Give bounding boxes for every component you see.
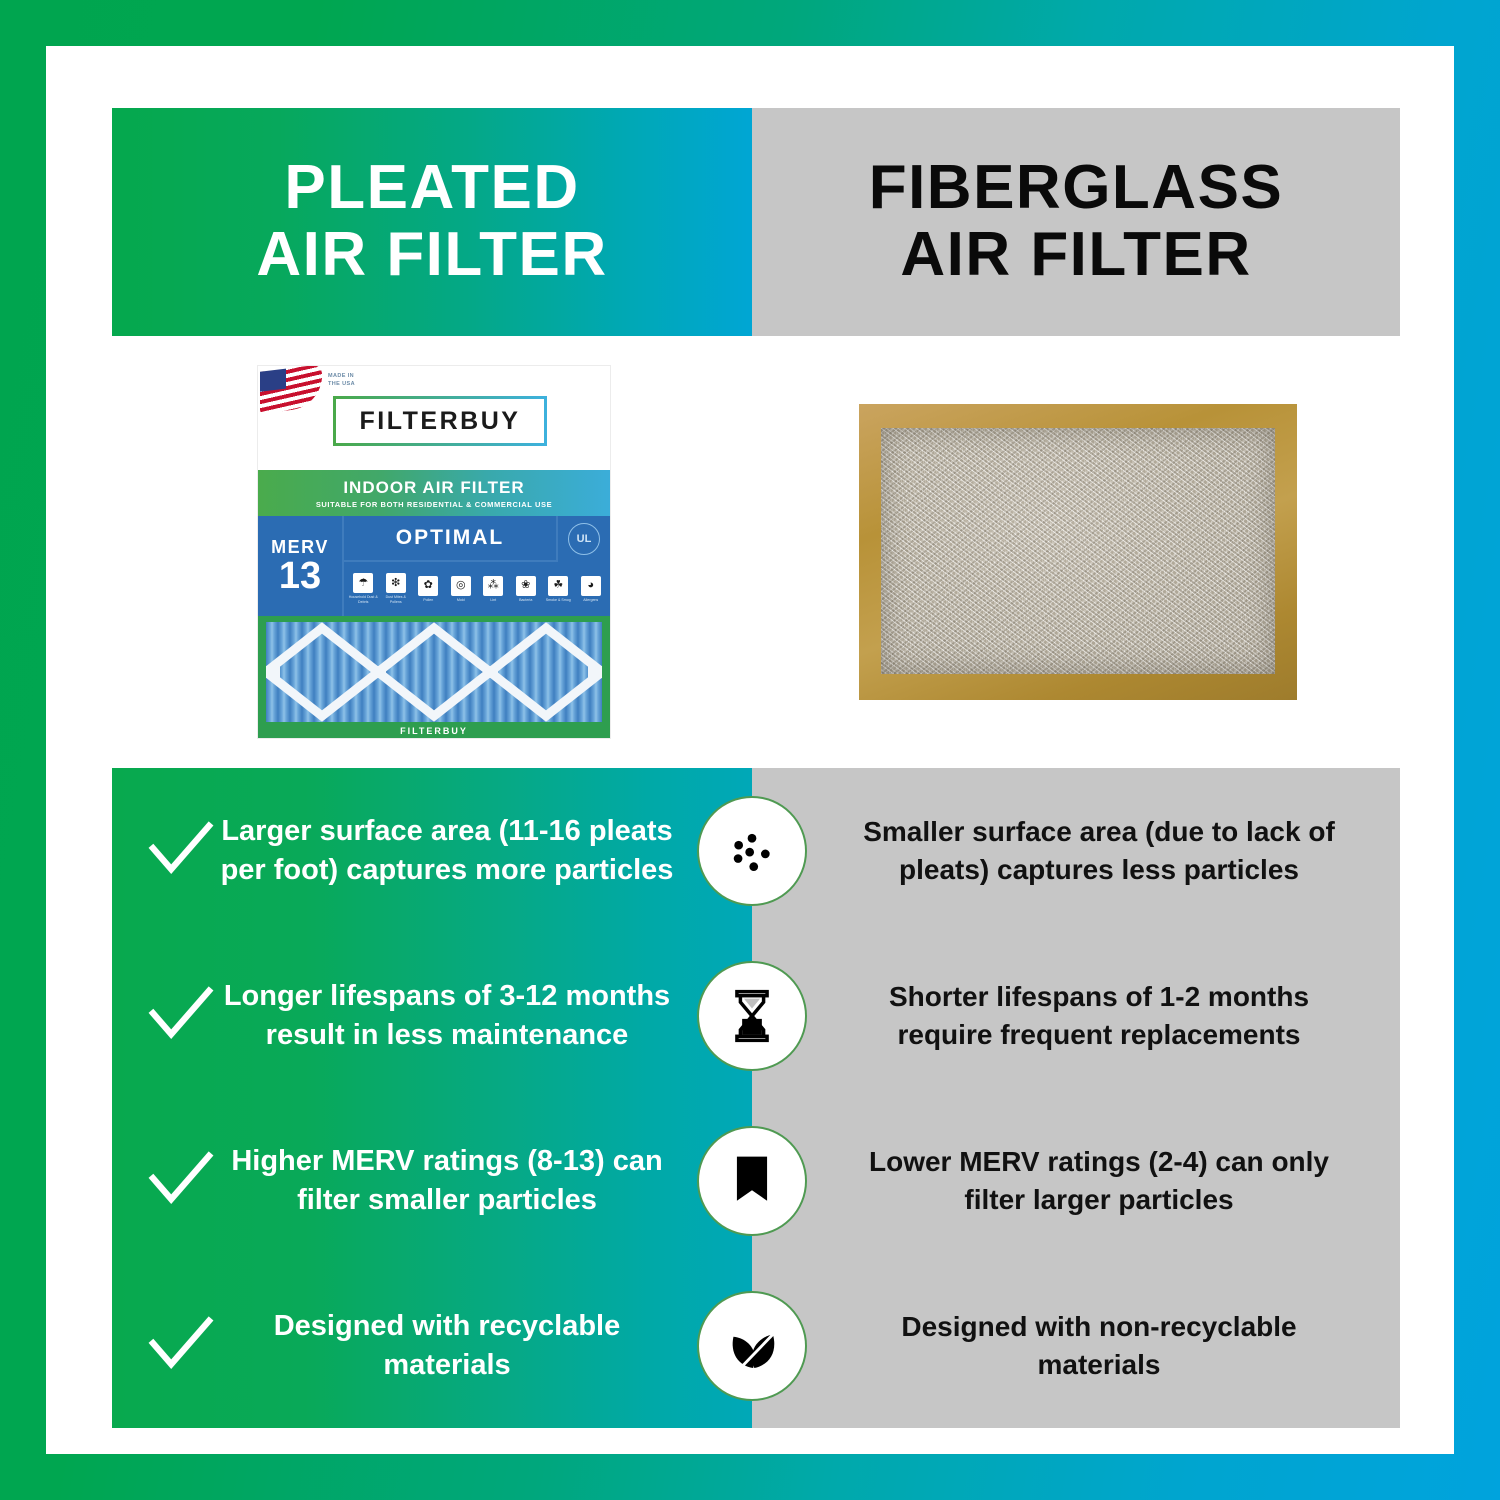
capture-icon-caption: Pollen: [423, 598, 433, 603]
capture-icon-caption: Bacteria: [519, 598, 532, 603]
filterbuy-logo-box: FILTERBUY: [333, 396, 547, 446]
made-in-usa-text: MADE INTHE USA: [328, 372, 355, 389]
capture-icon-3: ✿Pollen: [413, 576, 444, 603]
header-pleated-title: PLEATED AIR FILTER: [256, 155, 607, 289]
comparison-row-left: Designed with recyclable materials: [112, 1263, 752, 1428]
infographic-page: PLEATED AIR FILTER FIBERGLASS AIR FILTER…: [0, 0, 1500, 1500]
comparison-row: Designed with recyclable materialsDesign…: [112, 1263, 1400, 1428]
check-mark: [142, 1146, 220, 1216]
check-mark: [142, 816, 220, 886]
check-mark-icon: [146, 816, 216, 886]
fiberglass-product-cell: [756, 336, 1400, 768]
pleated-benefit-text: Designed with recyclable materials: [220, 1307, 726, 1384]
comparison-row-icon-badge: [704, 1298, 800, 1394]
comparison-row-left: Higher MERV ratings (8-13) can filter sm…: [112, 1098, 752, 1263]
infographic-canvas: PLEATED AIR FILTER FIBERGLASS AIR FILTER…: [46, 46, 1454, 1454]
capture-icon-7: ☘Smoke & Smog: [543, 576, 574, 603]
fiberglass-drawback-text: Designed with non-recyclable materials: [852, 1308, 1346, 1383]
capture-icon-glyph: ❇: [386, 573, 406, 593]
comparison-row-right: Designed with non-recyclable materials: [752, 1263, 1400, 1428]
pleated-band-subtitle: SUITABLE FOR BOTH RESIDENTIAL & COMMERCI…: [316, 500, 552, 509]
capture-icon-glyph: ☘: [548, 576, 568, 596]
fiberglass-filter-image: [859, 404, 1297, 700]
check-mark: [142, 981, 220, 1051]
capture-icon-caption: Dust Mites & Pollens: [381, 595, 412, 604]
filterbuy-logo-text: FILTERBUY: [360, 407, 521, 436]
comparison-rows: Larger surface area (11-16 pleats per fo…: [112, 768, 1400, 1428]
pleated-filter-image: MADE INTHE USA FILTERBUY INDOOR AIR FILT…: [258, 366, 610, 738]
product-images-row: MADE INTHE USA FILTERBUY INDOOR AIR FILT…: [112, 336, 1400, 768]
pleated-benefit-text: Higher MERV ratings (8-13) can filter sm…: [220, 1142, 726, 1219]
capture-icon-glyph: ☂: [353, 573, 373, 593]
ul-certification-icon: UL: [568, 523, 600, 555]
capture-icon-glyph: ◕: [581, 576, 601, 596]
pleat-support-grid-icon: [266, 622, 602, 722]
check-mark-icon: [146, 981, 216, 1051]
pleated-label-mid-right: OPTIMAL UL ☂Household Dust & Debris❇Dust…: [344, 516, 610, 616]
tier-name: OPTIMAL: [344, 516, 556, 562]
comparison-row-icon-badge: [704, 1133, 800, 1229]
capture-icon-1: ☂Household Dust & Debris: [348, 573, 379, 604]
check-mark-icon: [146, 1311, 216, 1381]
particles-icon: [723, 822, 781, 880]
pleated-footer-brand: FILTERBUY: [258, 726, 610, 736]
fiberglass-drawback-text: Lower MERV ratings (2-4) can only filter…: [852, 1143, 1346, 1218]
fiberglass-drawback-text: Shorter lifespans of 1-2 months require …: [852, 978, 1346, 1053]
comparison-row-right: Smaller surface area (due to lack of ple…: [752, 768, 1400, 933]
capture-icon-6: ❀Bacteria: [511, 576, 542, 603]
header-band: PLEATED AIR FILTER FIBERGLASS AIR FILTER: [112, 108, 1400, 336]
comparison-row-right: Shorter lifespans of 1-2 months require …: [752, 933, 1400, 1098]
ul-badge-cell: UL: [556, 516, 610, 562]
pleated-media-pleats: [266, 622, 602, 722]
capture-icon-4: ◎Mold: [446, 576, 477, 603]
capture-icon-caption: Household Dust & Debris: [348, 595, 379, 604]
pleated-product-cell: MADE INTHE USA FILTERBUY INDOOR AIR FILT…: [112, 336, 756, 768]
comparison-row-icon-badge: [704, 968, 800, 1064]
fiberglass-media: [881, 428, 1275, 674]
capture-icon-caption: Smoke & Smog: [546, 598, 571, 603]
merv-value: 13: [279, 558, 321, 594]
comparison-row-right: Lower MERV ratings (2-4) can only filter…: [752, 1098, 1400, 1263]
comparison-row: Higher MERV ratings (8-13) can filter sm…: [112, 1098, 1400, 1263]
header-pleated: PLEATED AIR FILTER: [112, 108, 752, 336]
ribbon-bookmark-icon: [723, 1152, 781, 1210]
pleated-label-top: MADE INTHE USA FILTERBUY: [258, 366, 610, 470]
fiberglass-drawback-text: Smaller surface area (due to lack of ple…: [852, 813, 1346, 888]
capture-icon-glyph: ◎: [451, 576, 471, 596]
header-fiberglass: FIBERGLASS AIR FILTER: [752, 108, 1400, 336]
pleated-benefit-text: Larger surface area (11-16 pleats per fo…: [220, 812, 726, 889]
capture-icon-8: ◕Allergens: [576, 576, 607, 603]
check-mark-icon: [146, 1146, 216, 1216]
comparison-row: Larger surface area (11-16 pleats per fo…: [112, 768, 1400, 933]
pleated-label-band: INDOOR AIR FILTER SUITABLE FOR BOTH RESI…: [258, 470, 610, 516]
pleated-label-mid: MERV 13 OPTIMAL UL ☂Household Dust & Deb…: [258, 516, 610, 616]
hourglass-icon: [723, 987, 781, 1045]
comparison-row-left: Longer lifespans of 3-12 months result i…: [112, 933, 752, 1098]
capture-icon-glyph: ❀: [516, 576, 536, 596]
merv-rating-block: MERV 13: [258, 516, 344, 616]
comparison-row: Longer lifespans of 3-12 months result i…: [112, 933, 1400, 1098]
comparison-row-icon-badge: [704, 803, 800, 899]
capture-icon-5: ⁂Lint: [478, 576, 509, 603]
pleated-benefit-text: Longer lifespans of 3-12 months result i…: [220, 977, 726, 1054]
capture-icon-glyph: ⁂: [483, 576, 503, 596]
pleated-band-title: INDOOR AIR FILTER: [343, 478, 524, 498]
tier-row: OPTIMAL UL: [344, 516, 610, 562]
usa-flag-icon: [260, 366, 322, 414]
capture-icon-caption: Mold: [457, 598, 465, 603]
pleated-media-area: FILTERBUY: [258, 616, 610, 738]
leaf-sprout-icon: [723, 1317, 781, 1375]
comparison-row-left: Larger surface area (11-16 pleats per fo…: [112, 768, 752, 933]
capture-icon-caption: Lint: [490, 598, 496, 603]
header-fiberglass-title: FIBERGLASS AIR FILTER: [869, 155, 1284, 289]
check-mark: [142, 1311, 220, 1381]
capture-icon-2: ❇Dust Mites & Pollens: [381, 573, 412, 604]
capture-icons-strip: ☂Household Dust & Debris❇Dust Mites & Po…: [344, 562, 610, 616]
capture-icon-caption: Allergens: [583, 598, 598, 603]
capture-icon-glyph: ✿: [418, 576, 438, 596]
